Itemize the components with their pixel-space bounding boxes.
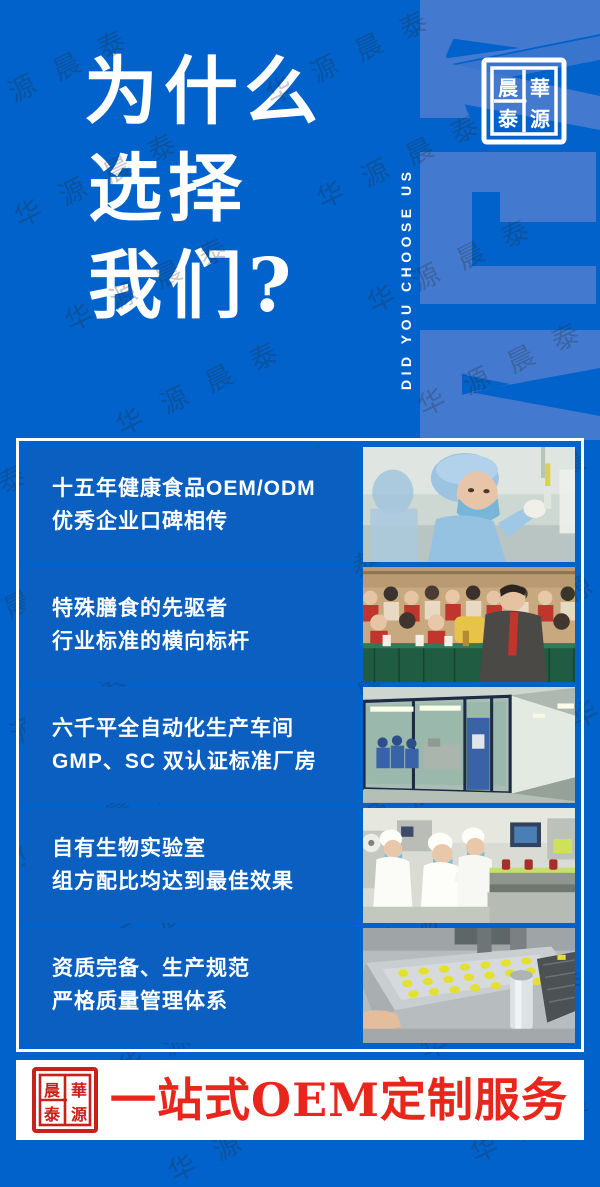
title-line-2: 选择 <box>84 141 324 238</box>
feature-card-text: 自有生物实验室 组方配比均达到最佳效果 <box>25 808 356 923</box>
svg-text:晨: 晨 <box>498 76 519 100</box>
header-section: 为什么 选择 我们? DID YOU CHOOSE US 晨 華 泰 <box>0 0 600 430</box>
title-line-3: 我们? <box>84 238 324 335</box>
cleanroom-corridor-photo <box>363 687 575 802</box>
feature-line: 行业标准的横向标杆 <box>52 625 356 658</box>
feature-card: 十五年健康食品OEM/ODM 优秀企业口碑相传 <box>25 447 575 562</box>
lab-technician-pipetting-photo <box>363 447 575 562</box>
title-line-1: 为什么 <box>84 44 324 141</box>
svg-text:華: 華 <box>530 76 550 100</box>
feature-cards-frame: 十五年健康食品OEM/ODM 优秀企业口碑相传 <box>16 438 584 1052</box>
company-seal-icon: 晨 華 泰 源 <box>478 54 570 148</box>
feature-line: 特殊膳食的先驱者 <box>52 592 356 625</box>
feature-line: 十五年健康食品OEM/ODM <box>52 472 356 505</box>
feature-card-text: 十五年健康食品OEM/ODM 优秀企业口碑相传 <box>25 447 356 562</box>
feature-card-text: 资质完备、生产规范 严格质量管理体系 <box>25 928 356 1043</box>
feature-card: 资质完备、生产规范 严格质量管理体系 <box>25 928 575 1043</box>
company-seal-icon-red: 晨 華 泰 源 <box>30 1065 100 1135</box>
poster-root: 为什么 选择 我们? DID YOU CHOOSE US 晨 華 泰 <box>0 0 600 1187</box>
watermark-text: 华 源 晨 泰 <box>211 1178 392 1187</box>
svg-text:泰: 泰 <box>43 1105 61 1124</box>
feature-line: GMP、SC 双认证标准厂房 <box>52 745 356 778</box>
page-title: 为什么 选择 我们? <box>84 44 324 335</box>
watermark-text: 华 源 晨 泰 <box>513 1160 600 1187</box>
feature-card: 特殊膳食的先驱者 行业标准的横向标杆 <box>25 567 575 682</box>
footer-band: 晨 華 泰 源 一站式OEM定制服务 <box>16 1060 584 1140</box>
feature-card: 六千平全自动化生产车间 GMP、SC 双认证标准厂房 <box>25 687 575 802</box>
feature-card-text: 六千平全自动化生产车间 GMP、SC 双认证标准厂房 <box>25 687 356 802</box>
svg-text:晨: 晨 <box>44 1081 61 1100</box>
lab-staff-inspecting-line-photo <box>363 808 575 923</box>
svg-text:華: 華 <box>71 1081 87 1100</box>
feature-card-text: 特殊膳食的先驱者 行业标准的横向标杆 <box>25 567 356 682</box>
feature-line: 组方配比均达到最佳效果 <box>52 865 356 898</box>
svg-text:源: 源 <box>71 1105 87 1124</box>
footer-slogan: 一站式OEM定制服务 <box>110 1077 568 1123</box>
feature-line: 严格质量管理体系 <box>52 985 356 1018</box>
vertical-tagline: DID YOU CHOOSE US <box>398 22 424 390</box>
feature-line: 自有生物实验室 <box>52 832 356 865</box>
feature-line: 六千平全自动化生产车间 <box>52 712 356 745</box>
feature-line: 优秀企业口碑相传 <box>52 505 356 538</box>
feature-card: 自有生物实验室 组方配比均达到最佳效果 <box>25 808 575 923</box>
industry-conference-audience-photo <box>363 567 575 682</box>
svg-text:泰: 泰 <box>497 107 519 131</box>
feature-line: 资质完备、生产规范 <box>52 952 356 985</box>
svg-text:源: 源 <box>530 107 550 131</box>
blister-packaging-machine-photo <box>363 928 575 1043</box>
